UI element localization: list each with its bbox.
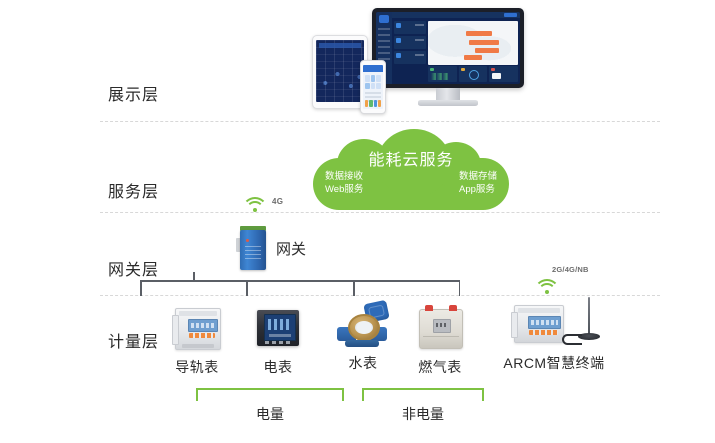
sidebar-line (378, 28, 390, 30)
device-label-water-meter: 水表 (320, 353, 406, 373)
device-gas-meter: 燃气表 (397, 303, 483, 377)
device-electricity-meter: 电表 (235, 303, 321, 377)
phone-app-tile (371, 75, 376, 82)
map-marker (475, 48, 499, 53)
sidebar-line (378, 40, 390, 42)
meter-buttons (529, 330, 558, 335)
meter-buttons (265, 341, 293, 344)
dashboard-logo-icon (379, 15, 389, 23)
phone-app-grid (365, 75, 381, 89)
cloud-service-column-right: 数据存储 App服务 (459, 170, 497, 196)
phone-app-header (363, 65, 383, 72)
stat-card (394, 36, 426, 49)
monitor-bezel (372, 8, 524, 88)
bracket-non-electric-quantity (362, 388, 484, 401)
cloud-service-column-left: 数据接收 Web服务 (325, 170, 363, 196)
gas-meter-display (433, 319, 451, 333)
phone-tab (369, 100, 372, 107)
device-label-electricity-meter: 电表 (235, 357, 321, 377)
monitor-icon (372, 8, 524, 112)
gateway-to-meters-connector (140, 272, 460, 296)
dashboard-stat-cards (394, 21, 426, 64)
gateway-label: 网关 (276, 238, 306, 259)
monitor-screen (376, 12, 520, 84)
chart-card (428, 66, 457, 82)
table-card (489, 66, 518, 82)
cloud-service-columns: 数据接收 Web服务 数据存储 App服务 (325, 170, 497, 196)
water-meter-icon (320, 299, 406, 349)
phone-app-tile (371, 83, 376, 90)
dashboard-bottom-cards (428, 66, 518, 82)
phone-icon (360, 60, 386, 114)
gas-meter-icon (397, 303, 483, 353)
phone-tab (374, 100, 377, 107)
device-label-arcm-terminal: ARCM智慧终端 (492, 353, 616, 373)
wifi-icon (534, 278, 560, 296)
gateway-uplink-label: 4G (272, 197, 283, 206)
monitor-stand-base (418, 100, 478, 106)
phone-tab (378, 100, 381, 107)
presentation-devices-group (300, 8, 535, 116)
device-label-din-rail-meter: 导轨表 (154, 357, 240, 377)
meter-lcd (528, 316, 561, 329)
gas-meter-port (425, 305, 433, 311)
arcm-unit (514, 305, 564, 343)
antenna-icon (588, 297, 590, 335)
din-rail-meter-icon (154, 303, 240, 353)
arcm-terminal-icon: 2G/4G/NB (492, 299, 616, 349)
phone-screen (363, 65, 383, 109)
meter-lcd (188, 319, 218, 332)
arcm-uplink-label: 2G/4G/NB (552, 265, 589, 274)
dashboard-topbar (392, 12, 520, 18)
layer-divider-1 (100, 121, 660, 122)
gas-meter-port (449, 305, 457, 311)
device-label-gas-meter: 燃气表 (397, 357, 483, 377)
meter-buttons (189, 333, 215, 338)
gauge-card (459, 66, 488, 82)
stat-card (394, 51, 426, 64)
meter-display (264, 314, 296, 341)
dashboard-map-panel (428, 21, 518, 65)
layer-label-presentation: 展示层 (108, 81, 200, 105)
cloud-service-group: 能耗云服务 数据接收 Web服务 数据存储 App服务 (313, 146, 509, 214)
phone-list-row (365, 92, 381, 94)
dashboard-body (392, 12, 520, 84)
map-marker (469, 40, 499, 45)
electricity-meter-icon (235, 303, 321, 353)
cloud-service-item: 数据接收 (325, 170, 363, 183)
phone-app-tile (365, 75, 370, 82)
cloud-service-item: Web服务 (325, 183, 363, 196)
cloud-content: 能耗云服务 数据接收 Web服务 数据存储 App服务 (313, 158, 509, 210)
sidebar-line (378, 46, 390, 48)
bracket-label-electric-quantity: 电量 (196, 404, 344, 424)
gateway-led-icon (246, 239, 249, 242)
cloud-service-item: 数据存储 (459, 170, 497, 183)
device-arcm-terminal: 2G/4G/NB ARCM智慧终端 (492, 299, 616, 373)
phone-app-tile (376, 75, 381, 82)
wifi-icon (242, 196, 268, 214)
map-marker (464, 55, 482, 60)
cloud-service-item: App服务 (459, 183, 497, 196)
phone-app-tile (365, 83, 370, 90)
bracket-label-non-electric-quantity: 非电量 (362, 404, 484, 424)
water-meter-dial (348, 314, 380, 341)
phone-app-tile (376, 83, 381, 90)
phone-tab (365, 100, 368, 107)
gateway-body (240, 230, 266, 270)
cloud-title: 能耗云服务 (313, 146, 509, 170)
antenna-cable (562, 334, 582, 345)
phone-tabbar (365, 100, 381, 107)
tablet-screen (316, 40, 364, 102)
bracket-electric-quantity (196, 388, 344, 401)
sidebar-line (378, 34, 390, 36)
layer-label-service: 服务层 (108, 178, 200, 202)
device-din-rail-meter: 导轨表 (154, 303, 240, 377)
phone-list-row (365, 96, 381, 98)
stat-card (394, 21, 426, 34)
sidebar-line (378, 52, 390, 54)
dashboard-topbar-badge (504, 13, 517, 17)
map-marker (466, 31, 492, 36)
gateway-device-icon (236, 226, 270, 272)
device-water-meter: 水表 (320, 299, 406, 373)
architecture-diagram: 展示层 服务层 网关层 计量层 (0, 0, 715, 443)
